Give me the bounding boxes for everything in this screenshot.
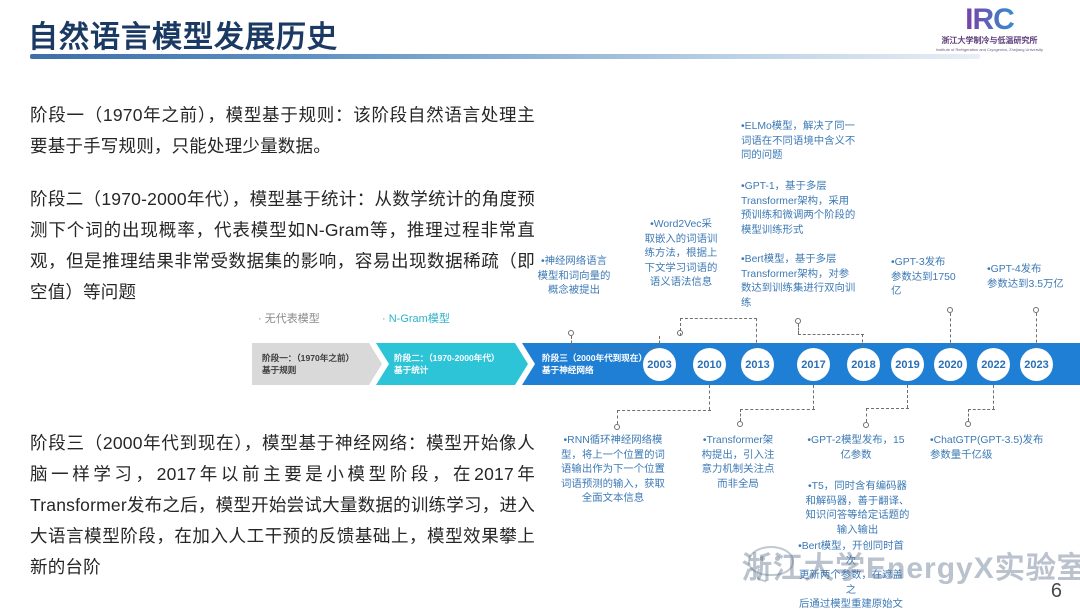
- connector-dot-2017: [737, 421, 743, 427]
- legend-ngram-model: · N-Gram模型: [382, 310, 450, 326]
- annotation-2019-t5: •T5，同时含有编码器 和解码器，善于翻译、 知识问答等给定话题的 输入输出: [800, 480, 915, 538]
- wechat-bubble-icon: [748, 546, 794, 576]
- annotation-2003-nnlm: •神经网络语言 模型和词向量的 概念被提出: [530, 255, 618, 299]
- connector-v-2003a: [571, 336, 572, 348]
- annotation-2023-gpt4: •GPT-4发布 参数达到3.5万亿: [987, 263, 1080, 292]
- logo-mark-text: IRC: [907, 4, 1072, 36]
- watermark-label: 浙江大学EnergyX实验室: [742, 543, 1080, 587]
- wechat-eye-left: [760, 556, 765, 561]
- title-underline-rule: [30, 54, 980, 59]
- paragraph-stage-three: 阶段三（2000年代到现在），模型基于神经网络：模型开始像人脑一样学习，2017…: [30, 428, 535, 583]
- connector-h-2018: [798, 334, 864, 335]
- year-marker-2010[interactable]: 2010: [693, 348, 726, 381]
- stage-1-line-2: 基于规则: [262, 365, 296, 375]
- paragraph-stage-two: 阶段二（1970-2000年代），模型基于统计：从数学统计的角度预测下个词的出现…: [30, 184, 535, 308]
- year-marker-2023[interactable]: 2023: [1020, 348, 1053, 381]
- connector-v-2018a: [798, 324, 799, 334]
- legend-no-representative-model: · 无代表模型: [258, 310, 320, 326]
- annotation-2017-transformer: •Transformer架 构提出，引入注 意力机制关注点 而非全局: [696, 434, 780, 492]
- stage-2-line-2: 基于统计: [394, 365, 428, 375]
- year-marker-2022[interactable]: 2022: [977, 348, 1010, 381]
- logo-institute-name-en: Institute of Refrigeration and Cryogenic…: [911, 46, 1068, 53]
- year-marker-2019[interactable]: 2019: [891, 348, 924, 381]
- connector-v-2018b: [862, 334, 863, 348]
- timeline-stage-3-text: 阶段三（2000年代到现在） 基于神经网络: [522, 352, 647, 376]
- annotation-2013-word2vec: •Word2Vec采 取嵌入的词语训 练方法，根据上 下文学习词语的 语义语法信…: [636, 218, 726, 291]
- annotation-2019-gpt2: •GPT-2模型发布，15 亿参数: [800, 434, 912, 463]
- annotation-bert-masked-lm: •Bert模型，开创同时首次 更新两个参数，在遮盖之 后通过模型重建原始文 本: [795, 540, 907, 609]
- connector-v-2017b: [740, 409, 741, 421]
- irc-logo: IRC 浙江大学制冷与低温研究所 Institute of Refrigerat…: [907, 4, 1072, 56]
- connector-v-2022a: [993, 385, 994, 409]
- year-marker-2013[interactable]: 2013: [741, 348, 774, 381]
- page-number: 6: [1051, 580, 1062, 603]
- connector-v-2022b: [968, 409, 969, 421]
- connector-h-2017: [740, 409, 815, 410]
- connector-v-2010a: [709, 385, 710, 410]
- connector-dot-2010: [614, 424, 620, 430]
- timeline-stage-1-text: 阶段一：（1970年之前） 基于规则: [252, 352, 354, 376]
- year-marker-2017[interactable]: 2017: [797, 348, 830, 381]
- connector-v-2013a: [680, 318, 681, 336]
- connector-v-2003b: [659, 336, 660, 348]
- year-marker-2020[interactable]: 2020: [934, 348, 967, 381]
- annotation-2018-elmo: •ELMo模型，解决了同一 词语在不同语境中含义不 同的问题: [741, 120, 866, 164]
- timeline-stage-2-text: 阶段二：（1970-2000年代） 基于统计: [376, 352, 500, 376]
- logo-institute-name-cn: 浙江大学制冷与低温研究所: [907, 36, 1072, 46]
- slide-canvas: 自然语言模型发展历史 IRC 浙江大学制冷与低温研究所 Institute of…: [0, 0, 1080, 609]
- annotation-2018-gpt1: •GPT-1，基于多层 Transformer架构，采用 预训练和微调两个阶段的…: [741, 180, 866, 238]
- wechat-eye-right: [775, 556, 780, 561]
- connector-v-2019b: [866, 408, 867, 422]
- stage-3-line-2: 基于神经网络: [542, 365, 594, 375]
- connector-v-2019a: [907, 385, 908, 408]
- stage-2-line-1: 阶段二：（1970-2000年代）: [394, 353, 500, 363]
- page-title: 自然语言模型发展历史: [28, 12, 338, 56]
- annotation-2018-bert: •Bert模型，基于多层 Transformer架构，对参 数达到训练集进行双向…: [741, 253, 866, 311]
- stage-1-line-1: 阶段一：（1970年之前）: [262, 353, 354, 363]
- connector-v-2023: [1036, 313, 1037, 348]
- timeline-stage-1: 阶段一：（1970年之前） 基于规则: [252, 343, 382, 385]
- connector-v-2013b: [756, 318, 757, 348]
- timeline-stage-2: 阶段二：（1970-2000年代） 基于统计: [376, 343, 528, 385]
- paragraph-stage-one: 阶段一（1970年之前），模型基于规则：该阶段自然语言处理主要基于手写规则，只能…: [30, 100, 535, 162]
- year-marker-2003[interactable]: 2003: [643, 348, 676, 381]
- annotation-2022-chatgtp: •ChatGTP(GPT-3.5)发布 参数量千亿级: [930, 434, 1070, 463]
- connector-v-2020: [950, 313, 951, 348]
- connector-h-2010: [617, 410, 711, 411]
- year-marker-2018[interactable]: 2018: [847, 348, 880, 381]
- stage-3-line-1: 阶段三（2000年代到现在）: [542, 353, 647, 363]
- connector-h-2003: [571, 348, 661, 349]
- connector-v-2017a: [813, 385, 814, 409]
- annotation-2020-gpt3: •GPT-3发布 参数达到1750 亿: [891, 256, 969, 300]
- connector-v-2010b: [617, 410, 618, 424]
- annotation-2010-rnn: •RNN循环神经网络模 型，将上一个位置的词 语输出作为下一个位置 词语预测的输…: [558, 434, 668, 507]
- connector-h-2013: [680, 318, 757, 319]
- connector-h-2019: [866, 408, 909, 409]
- connector-dot-2022: [965, 421, 971, 427]
- connector-h-2022: [968, 409, 995, 410]
- connector-dot-2019: [863, 422, 869, 428]
